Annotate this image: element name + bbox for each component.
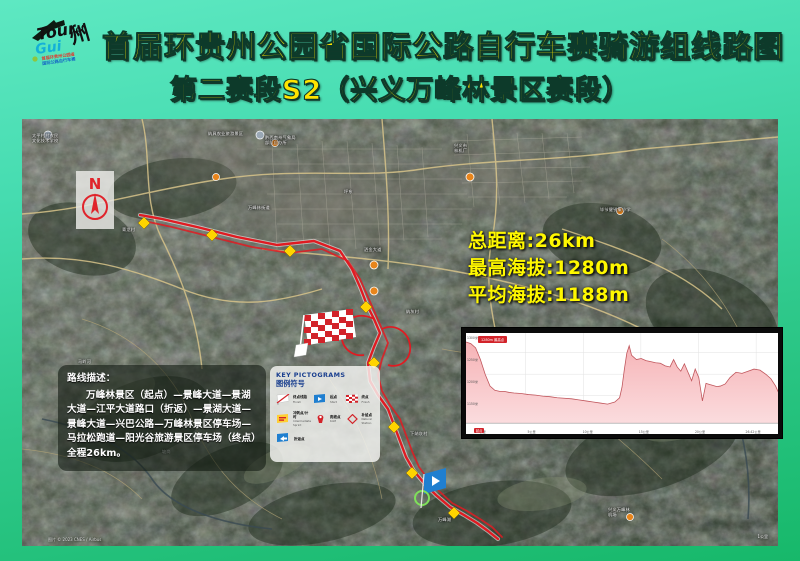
page-subtitle: 第二赛段S2（兴义万峰林景区赛段） bbox=[0, 68, 800, 107]
legend-label: 终点Finish bbox=[362, 395, 370, 403]
y-tick-label: 1300米 bbox=[467, 335, 478, 340]
x-tick-label: 20公里 bbox=[695, 429, 705, 434]
legend-item-water-station: 补给点Natural Station bbox=[345, 411, 374, 427]
elevation-plot-area: 1300米 1250米 1200米 1150米 0公里 5公里 10公里 15公… bbox=[466, 333, 778, 434]
elevation-svg bbox=[466, 333, 778, 434]
map-attribution: 图片 © 2023 CNES / Airbus bbox=[48, 537, 101, 542]
map-label: 洒金大道 bbox=[364, 247, 382, 252]
tour-of-guizhou-logo: Tour of Gui 州 首届环贵州公园省 国际公路自行车赛 bbox=[24, 14, 102, 72]
y-tick-label: 1250米 bbox=[467, 357, 478, 362]
checker-flag-icon bbox=[345, 394, 360, 405]
start-flag-icon bbox=[313, 394, 328, 405]
stat-max-elevation: 最高海拔:1280m bbox=[468, 255, 629, 282]
legend-label: 起点Start bbox=[330, 395, 337, 403]
map-label: 青龙村 bbox=[122, 227, 135, 232]
stat-total-distance: 总距离:26km bbox=[468, 228, 629, 255]
legend-item-kom: 爬坡点KoM bbox=[313, 411, 342, 427]
chart-peak-annotation: 1280m 最高点 bbox=[478, 336, 507, 343]
y-tick-label: 1200米 bbox=[467, 379, 478, 384]
x-tick-label: 5公里 bbox=[527, 429, 535, 434]
kom-icon bbox=[313, 414, 328, 425]
legend-item-start: 起点Start bbox=[313, 394, 342, 405]
route-description-panel: 路线描述： 万峰林景区（起点）—景峰大道—景湖大道—江平大道路口（折返）—景湖大… bbox=[58, 365, 266, 471]
map-label: 兴义市林机厂 bbox=[454, 143, 467, 153]
legend-grid: 终点线路Finish 起点Start bbox=[276, 394, 374, 427]
map-label: 下纳灰村 bbox=[410, 431, 428, 436]
route-description-title: 路线描述： bbox=[67, 372, 257, 387]
water-station-icon bbox=[345, 414, 360, 425]
x-tick-label: 10公里 bbox=[583, 429, 593, 434]
elevation-profile-chart: 1300米 1250米 1200米 1150米 0公里 5公里 10公里 15公… bbox=[461, 327, 783, 439]
chart-start-annotation: 起点 bbox=[474, 428, 484, 433]
stat-avg-elevation: 平均海拔:1188m bbox=[468, 282, 629, 309]
map-scale: 1公里 bbox=[757, 534, 768, 540]
legend-item-sprint: 冲刺点/计时Intermediate Sprint bbox=[276, 411, 311, 427]
route-stats: 总距离:26km 最高海拔:1280m 平均海拔:1188m bbox=[468, 228, 629, 309]
legend-title-cn: 图例符号 bbox=[276, 379, 374, 389]
map-label: 黔西南州气象局部队自办所 bbox=[265, 135, 296, 145]
sprint-flag-icon bbox=[276, 414, 291, 425]
map-label: 太平村村农民文化技术学校 bbox=[32, 133, 58, 143]
legend-label: 折返点 bbox=[294, 437, 305, 441]
map-label: 毕节健锐集小学 bbox=[600, 207, 631, 212]
legend-label: 冲刺点/计时Intermediate Sprint bbox=[293, 411, 311, 427]
x-tick-label: 26.42公里 bbox=[746, 429, 761, 434]
finish-flag-icon bbox=[276, 394, 291, 405]
compass-rose: N bbox=[76, 171, 114, 229]
turn-point-icon bbox=[276, 433, 291, 444]
legend-item-finish-line: 终点线路Finish bbox=[276, 394, 311, 405]
legend-title-en: KEY PICTOGRAMS bbox=[276, 371, 374, 379]
legend-item-finish: 终点Finish bbox=[345, 394, 374, 405]
legend-item-turn-point: 折返点 bbox=[276, 433, 374, 444]
poster-root: Tour of Gui 州 首届环贵州公园省 国际公路自行车赛 首届环贵州公园省… bbox=[0, 0, 800, 561]
map-label: 纳灰村 bbox=[406, 309, 419, 314]
map-label: 纳具农业旅游景区 bbox=[208, 131, 243, 136]
legend-panel: KEY PICTOGRAMS 图例符号 终点线路Finish bbox=[270, 366, 380, 462]
y-tick-label: 1150米 bbox=[467, 401, 478, 406]
compass-north-label: N bbox=[89, 175, 102, 193]
route-description-body: 万峰林景区（起点）—景峰大道—景湖大道—江平大道路口（折返）—景湖大道—景峰大道… bbox=[67, 389, 257, 462]
map-label: 马岭河 bbox=[78, 359, 91, 364]
map-label: 万峰林街道 bbox=[248, 205, 270, 210]
page-title: 首届环贵州公园省国际公路自行车赛骑游组线路图 bbox=[98, 22, 788, 66]
legend-label: 终点线路Finish bbox=[293, 395, 307, 403]
map-label: 兴义万峰林机场 bbox=[608, 507, 630, 517]
map-label: 万峰湖 bbox=[438, 517, 451, 522]
legend-label: 爬坡点KoM bbox=[330, 415, 341, 423]
map-label: 坪东 bbox=[344, 189, 353, 194]
svg-text:州: 州 bbox=[67, 20, 93, 49]
legend-label: 补给点Natural Station bbox=[362, 413, 374, 425]
x-tick-label: 15公里 bbox=[639, 429, 649, 434]
